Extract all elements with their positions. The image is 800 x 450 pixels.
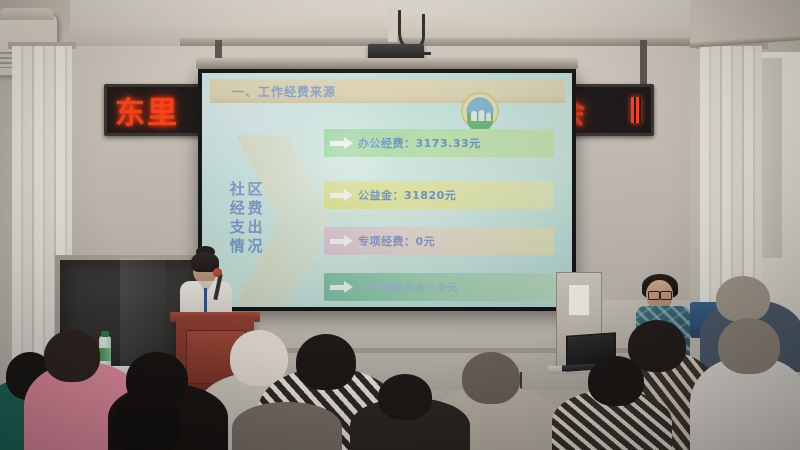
audience-member-head	[44, 330, 100, 382]
slide-content: 一、工作经费来源	[202, 73, 572, 307]
slide-bar-2-label: 专项经费：0元	[358, 233, 435, 249]
projector-mount	[388, 8, 397, 42]
projection-screen: 一、工作经费来源	[198, 69, 576, 311]
slide-bar-0-label: 办公经费：3173.33元	[358, 135, 481, 151]
slide-bar-0: 办公经费：3173.33元	[324, 129, 554, 157]
slide-bar-2: 专项经费：0元	[324, 227, 554, 255]
water-bottle-cap	[101, 331, 109, 337]
speaker-lanyard	[204, 288, 207, 314]
led-cursor-bars	[631, 97, 641, 123]
slide-bar-3: 社区积累资金：0元	[324, 273, 554, 301]
slide-title-band: 一、工作经费来源	[210, 79, 565, 103]
slide-bar-3-label: 社区积累资金：0元	[358, 279, 458, 295]
meeting-room-photo: 东里 结会 一、工作经费来源	[0, 0, 800, 450]
operator-glasses-right	[660, 291, 672, 300]
community-emblem-icon	[460, 91, 500, 131]
slide-bar-1-label: 公益金：31820元	[358, 187, 456, 203]
led-banner-left-text: 东里	[115, 88, 179, 132]
microphone-head	[213, 268, 222, 277]
audience-member-head	[296, 334, 356, 390]
audience-member-head	[230, 330, 288, 386]
slide-side-label: 社经支情 区费出况	[228, 181, 290, 281]
slide-title-text: 一、工作经费来源	[232, 83, 336, 100]
posted-paper	[568, 284, 590, 316]
audience-member-head	[462, 352, 520, 404]
air-conditioner-top	[0, 8, 54, 20]
audience-member-head	[716, 276, 770, 322]
water-bottle-label	[99, 348, 111, 361]
slide-bar-1: 公益金：31820元	[324, 181, 554, 209]
audience-member-head	[588, 356, 644, 406]
screen-roller-housing	[196, 58, 578, 69]
audience-member-head	[718, 318, 780, 374]
operator-glasses-left	[648, 291, 660, 300]
slide-side-label-col1: 社经支情	[228, 181, 244, 281]
audience-member-head	[378, 374, 432, 420]
audience-member-head	[112, 394, 182, 450]
slide-side-label-col2: 区费出况	[246, 181, 262, 281]
audience-member-shoulders	[232, 402, 342, 450]
